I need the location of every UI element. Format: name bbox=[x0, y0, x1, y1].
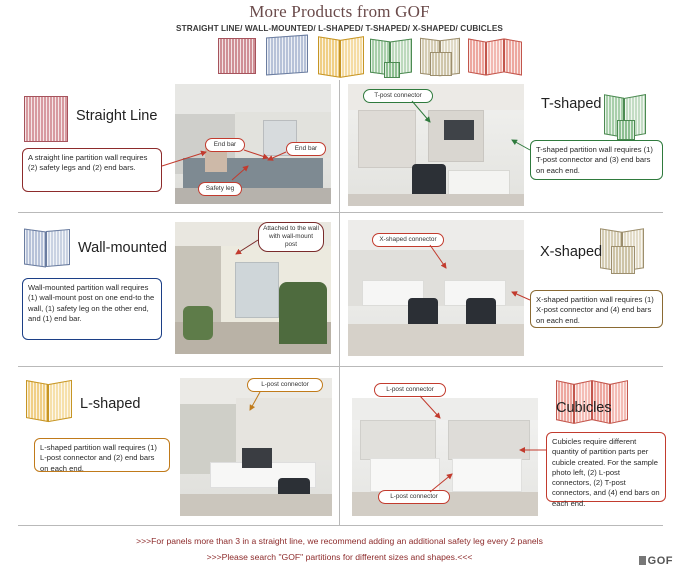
section-t-shaped-callout: T-shaped partition wall requires (1) T-p… bbox=[530, 140, 663, 180]
section-straight-line-callout: A straight line partition wall requires … bbox=[22, 148, 162, 192]
swatch-row bbox=[0, 34, 679, 76]
grid-vertical-divider bbox=[339, 80, 340, 525]
section-wall-mounted-label: Wall-mounted bbox=[78, 240, 167, 256]
pill-l-post-connector-top: L-post connector bbox=[374, 383, 446, 397]
footer-note-2: >>>Please search "GOF" partitions for di… bbox=[0, 552, 679, 562]
section-straight-line-icon bbox=[24, 96, 68, 142]
pill-end-bar-top: End bar bbox=[205, 138, 245, 152]
pill-t-post-connector: T-post connector bbox=[363, 89, 433, 103]
section-l-shaped-label: L-shaped bbox=[80, 396, 140, 412]
grid-horizontal-divider-1 bbox=[18, 212, 663, 213]
page-subtitle: STRAIGHT LINE/ WALL-MOUNTED/ L-SHAPED/ T… bbox=[0, 24, 679, 33]
pill-attached-to-wall: Attached to the wall with wall-mount pos… bbox=[258, 222, 324, 252]
section-wall-mounted-callout: Wall-mounted partition wall requires (1)… bbox=[22, 278, 162, 340]
section-straight-line-label: Straight Line bbox=[76, 108, 157, 124]
footer-note-1: >>>For panels more than 3 in a straight … bbox=[0, 536, 679, 546]
section-x-shaped-callout: X-shaped partition wall requires (1) X-p… bbox=[530, 290, 663, 328]
logo-text: GOF bbox=[648, 555, 673, 567]
wall-mounted-swatch bbox=[266, 36, 308, 74]
pill-l-post-connector-bottom: L-post connector bbox=[378, 490, 450, 504]
section-cubicles-callout: Cubicles require different quantity of p… bbox=[546, 432, 666, 502]
pill-safety-leg: Safety leg bbox=[198, 182, 242, 196]
pill-end-bar-right: End bar bbox=[286, 142, 326, 156]
grid-horizontal-divider-3 bbox=[18, 525, 663, 526]
section-l-shaped-callout: L-shaped partition wall requires (1) L-p… bbox=[34, 438, 170, 472]
logo-mark-icon bbox=[639, 556, 646, 565]
section-x-shaped-label: X-shaped bbox=[540, 244, 602, 260]
section-cubicles-label: Cubicles bbox=[556, 400, 612, 416]
pill-x-post-connector: X-shaped connector bbox=[372, 233, 444, 247]
section-t-shaped-label: T-shaped bbox=[541, 96, 601, 112]
l-shaped-photo bbox=[180, 378, 332, 516]
pill-l-post-connector: L-post connector bbox=[247, 378, 323, 392]
grid-horizontal-divider-2 bbox=[18, 366, 663, 367]
straight-line-swatch bbox=[218, 38, 256, 74]
page-title: More Products from GOF bbox=[0, 2, 679, 22]
gof-logo: GOF bbox=[639, 555, 673, 567]
